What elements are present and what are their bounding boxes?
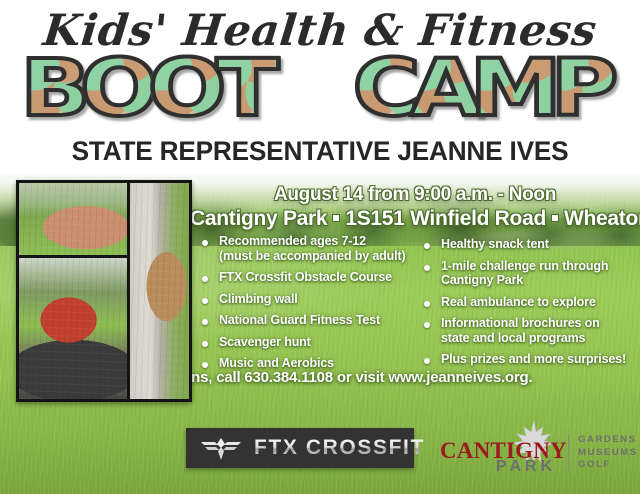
list-item-label: Climbing wall: [219, 292, 298, 307]
photo-texture: [19, 258, 127, 399]
bullet-dot-icon: [202, 276, 208, 282]
list-item-label: National Guard Fitness Test: [219, 313, 380, 328]
list-item-label: Healthy snack tent: [441, 237, 549, 252]
separator-square-icon: [552, 215, 558, 221]
ftx-crossfit-label: FTX CROSSFIT: [254, 436, 425, 460]
list-item: 1-mile challenge run throughCantigny Par…: [418, 259, 640, 288]
camo-letter: M: [470, 50, 563, 128]
event-city: Wheaton: [564, 207, 640, 230]
bullet-dot-icon: [424, 301, 430, 307]
logo-divider: [568, 434, 569, 472]
bullet-dot-icon: [202, 341, 208, 347]
list-item-label: Scavenger hunt: [219, 335, 311, 350]
list-item-label: Informational brochures onstate and loca…: [441, 316, 600, 345]
list-item: Healthy snack tent: [418, 237, 640, 252]
bullet-dot-icon: [424, 243, 430, 249]
winged-emblem-icon: [200, 435, 242, 461]
camo-title: BOOT CAMP: [0, 50, 640, 128]
event-info: August 14 from 9:00 a.m. - Noon Cantigny…: [190, 183, 640, 232]
event-address: 1S151 Winfield Road: [345, 207, 546, 230]
subtitle-representative: STATE REPRESENTATIVE JEANNE IVES: [10, 136, 631, 167]
event-date-time: August 14 from 9:00 a.m. - Noon: [190, 183, 640, 206]
bullet-dot-icon: [202, 298, 208, 304]
ftx-crossfit-logo: FTX CROSSFIT: [186, 428, 414, 468]
feature-column-right: Healthy snack tent 1-mile challenge run …: [418, 234, 640, 378]
list-item: Plus prizes and more surprises!: [418, 352, 640, 367]
bullet-dot-icon: [202, 240, 208, 246]
camo-letter: P: [551, 50, 620, 128]
boy-running-through-tires-photo: [19, 258, 127, 399]
list-item: FTX Crossfit Obstacle Course: [196, 270, 418, 285]
camo-word-camp: CAMP: [358, 50, 614, 128]
list-item: Scavenger hunt: [196, 335, 418, 350]
cantigny-sub-gardens: GARDENS: [578, 434, 637, 445]
list-item: National Guard Fitness Test: [196, 313, 418, 328]
separator-square-icon: [333, 215, 339, 221]
girl-on-climbing-wall-photo: [130, 183, 189, 399]
list-item: Informational brochures onstate and loca…: [418, 316, 640, 345]
poster-flyer: Kids' Health & Fitness BOOT CAMP STATE R…: [0, 0, 640, 494]
list-item-label: Plus prizes and more surprises!: [441, 352, 626, 367]
list-item-label: Recommended ages 7-12(must be accompanie…: [219, 234, 406, 263]
bullet-dot-icon: [424, 322, 430, 328]
cantigny-park-label: PARK: [496, 458, 556, 476]
girl-crawling-under-obstacle-photo: [19, 183, 127, 255]
bullet-dot-icon: [202, 362, 208, 368]
bullet-dot-icon: [202, 319, 208, 325]
bullet-dot-icon: [424, 358, 430, 364]
list-item: Climbing wall: [196, 292, 418, 307]
feature-columns: Recommended ages 7-12(must be accompanie…: [196, 234, 640, 378]
list-item-label: 1-mile challenge run throughCantigny Par…: [441, 259, 608, 288]
cantigny-sublabels: GARDENS MUSEUMS GOLF: [578, 434, 638, 472]
list-item-label: Real ambulance to explore: [441, 295, 596, 310]
camo-word-boot: BOOT: [26, 50, 275, 128]
cantigny-park-logo: CANTIGNY PARK GARDENS MUSEUMS GOLF: [440, 424, 626, 476]
cantigny-sub-golf: GOLF: [578, 459, 611, 470]
feature-column-left: Recommended ages 7-12(must be accompanie…: [196, 234, 418, 378]
list-item: Recommended ages 7-12(must be accompanie…: [196, 234, 418, 263]
list-item-label: FTX Crossfit Obstacle Course: [219, 270, 392, 285]
cantigny-sub-museums: MUSEUMS: [578, 447, 638, 458]
list-item: Real ambulance to explore: [418, 295, 640, 310]
photo-collage: [16, 180, 192, 402]
bullet-dot-icon: [424, 265, 430, 271]
photo-texture: [130, 183, 189, 399]
event-location: Cantigny Park1S151 Winfield RoadWheaton: [190, 206, 640, 232]
camo-letter: T: [216, 50, 280, 128]
photo-texture: [19, 183, 127, 255]
event-venue: Cantigny Park: [190, 207, 327, 230]
